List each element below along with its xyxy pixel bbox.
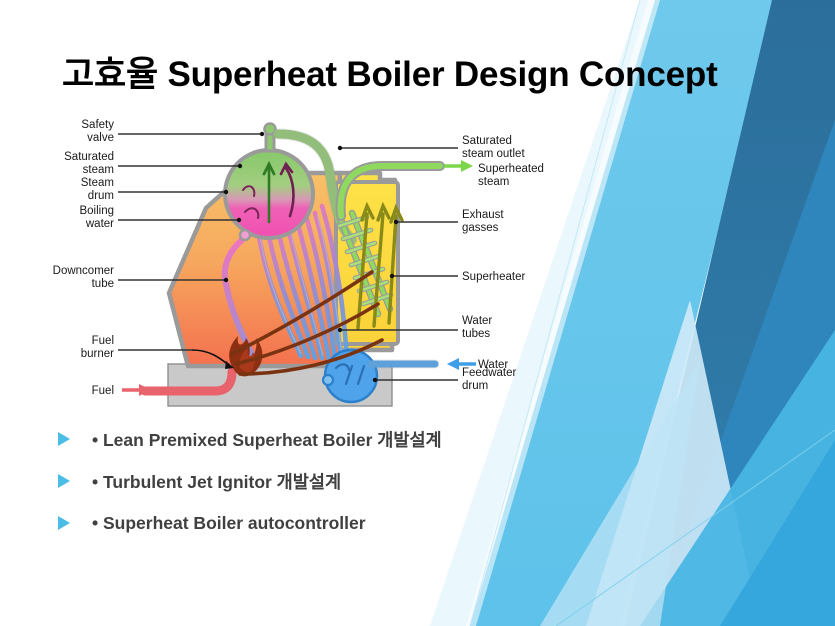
triangle-icon xyxy=(58,516,70,530)
label-water-tubes-2: tubes xyxy=(462,328,490,340)
list-item[interactable]: • Superheat Boiler autocontroller xyxy=(58,504,678,542)
feedwater-port xyxy=(323,375,333,385)
label-saturated-steam-2: steam xyxy=(83,164,114,176)
feedwater-drum xyxy=(325,350,377,402)
label-water-tubes: Water xyxy=(462,315,492,327)
bullet-text: • Superheat Boiler autocontroller xyxy=(92,513,366,534)
label-steam-drum: Steam xyxy=(81,177,114,189)
label-steam-drum-2: drum xyxy=(88,190,114,202)
label-downcomer-tube: Downcomer xyxy=(53,265,115,277)
bullet-text: • Turbulent Jet Ignitor 개발설계 xyxy=(92,469,341,494)
label-saturated-steam-outlet-2: steam outlet xyxy=(462,148,525,160)
label-fuel-burner-2: burner xyxy=(81,348,114,360)
label-fuel: Fuel xyxy=(92,385,114,397)
bullet-list: • Lean Premixed Superheat Boiler 개발설계 • … xyxy=(58,420,678,546)
label-saturated-steam-outlet: Saturated xyxy=(462,135,512,147)
label-feedwater-drum: Feedwater xyxy=(462,367,517,379)
triangle-icon xyxy=(58,474,70,488)
label-superheated-steam-2: steam xyxy=(478,176,509,188)
label-exhaust-gasses: Exhaust xyxy=(462,209,504,221)
triangle-icon xyxy=(58,432,70,446)
slide-canvas: 고효율 Superheat Boiler Design Concept xyxy=(0,0,835,626)
list-item[interactable]: • Lean Premixed Superheat Boiler 개발설계 xyxy=(58,420,678,458)
superheated-steam-arrow xyxy=(444,160,473,172)
label-superheater: Superheater xyxy=(462,271,525,283)
label-saturated-steam: Saturated xyxy=(64,151,114,163)
label-superheated-steam: Superheated xyxy=(478,163,544,175)
label-downcomer-tube-2: tube xyxy=(92,278,114,290)
label-boiling-water: Boiling xyxy=(79,205,114,217)
label-safety-valve-2: valve xyxy=(87,132,114,144)
label-safety-valve: Safety xyxy=(81,119,114,131)
boiler-diagram: Safety valve Saturated steam Steam drum … xyxy=(40,118,600,418)
deco-fan-mid xyxy=(720,440,835,626)
label-fuel-burner: Fuel xyxy=(92,335,114,347)
label-exhaust-gasses-2: gasses xyxy=(462,222,499,234)
label-boiling-water-2: water xyxy=(85,218,114,230)
bullet-text: • Lean Premixed Superheat Boiler 개발설계 xyxy=(92,427,442,452)
page-title: 고효율 Superheat Boiler Design Concept xyxy=(62,53,742,97)
label-feedwater-drum-2: drum xyxy=(462,380,488,392)
list-item[interactable]: • Turbulent Jet Ignitor 개발설계 xyxy=(58,462,678,500)
downcomer-outlet-port xyxy=(240,230,250,240)
deco-band-midblue xyxy=(655,120,835,626)
